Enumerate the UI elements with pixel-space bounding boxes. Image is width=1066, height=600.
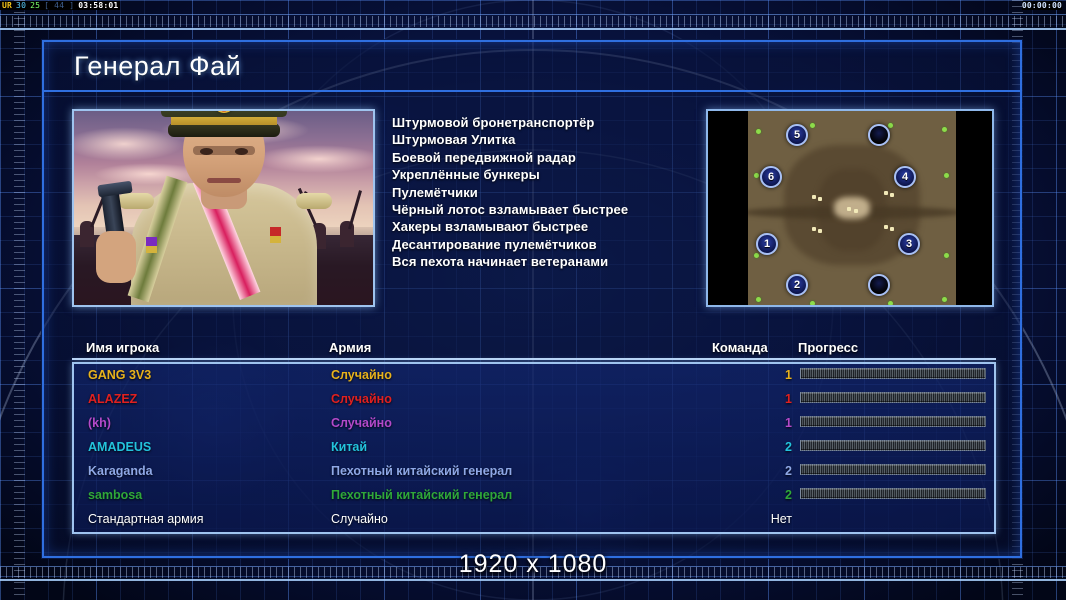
progress-bar	[800, 368, 986, 379]
progress-bar	[800, 440, 986, 451]
map-supply-icon	[754, 253, 759, 258]
map-start-position-5[interactable]: 5	[786, 124, 808, 146]
portrait-medal	[146, 237, 157, 253]
map-start-position-empty-1[interactable]	[868, 124, 890, 146]
ability-item: Десантирование пулемётчиков	[392, 236, 692, 253]
player-row[interactable]: KaragandaПехотный китайский генерал2	[74, 460, 994, 484]
player-row[interactable]: ALAZEZСлучайно1	[74, 388, 994, 412]
map-supply-icon	[942, 297, 947, 302]
upper-content-row: Штурмовой бронетранспортёр Штурмовая Ули…	[44, 94, 1020, 324]
general-portrait-frame	[72, 109, 375, 307]
map-tech-building-icon	[884, 225, 888, 229]
map-tech-building-icon	[890, 193, 894, 197]
player-army: Китай	[331, 440, 367, 454]
ability-item: Вся пехота начинает ветеранами	[392, 253, 692, 270]
player-list-panel: Имя игрока Армия Команда Прогресс GANG 3…	[72, 338, 996, 538]
player-name: sambosa	[88, 488, 142, 502]
portrait-epaulette	[296, 193, 332, 209]
hline-top-a	[0, 14, 1066, 15]
map-supply-icon	[756, 297, 761, 302]
session-clock: 03:58:01	[76, 1, 120, 10]
player-row[interactable]: sambosaПехотный китайский генерал2	[74, 484, 994, 508]
map-tech-building-icon	[812, 227, 816, 231]
map-supply-icon	[944, 253, 949, 258]
player-army: Случайно	[331, 392, 392, 406]
map-start-position-1[interactable]: 1	[756, 233, 778, 255]
column-header-name: Имя игрока	[86, 340, 159, 355]
player-team: 1	[744, 416, 792, 430]
map-supply-icon	[888, 301, 893, 306]
resolution-watermark: 1920 x 1080	[0, 550, 1066, 579]
map-tech-building-icon	[847, 207, 851, 211]
player-progress	[800, 440, 986, 451]
map-start-position-6[interactable]: 6	[760, 166, 782, 188]
portrait-eye	[235, 148, 248, 155]
player-name: GANG 3V3	[88, 368, 151, 382]
map-start-position-3[interactable]: 3	[898, 233, 920, 255]
map-supply-icon	[810, 123, 815, 128]
player-progress	[800, 416, 986, 427]
portrait-cap-brim	[168, 123, 280, 137]
player-name: (kh)	[88, 416, 111, 430]
player-team: 2	[744, 440, 792, 454]
fps-label: UR	[0, 1, 14, 10]
map-tech-building-icon	[812, 195, 816, 199]
ability-item: Боевой передвижной радар	[392, 149, 692, 166]
player-name: AMADEUS	[88, 440, 151, 454]
progress-bar	[800, 416, 986, 427]
map-supply-icon	[942, 127, 947, 132]
map-tech-building-icon	[818, 229, 822, 233]
player-progress	[800, 464, 986, 475]
player-progress	[800, 392, 986, 403]
window-title-bar: Генерал Фай	[44, 42, 1020, 92]
general-info-window: Генерал Фай	[42, 40, 1022, 558]
fps-alt-value: 25	[28, 1, 42, 10]
portrait-medal	[270, 227, 281, 243]
page-title: Генерал Фай	[74, 51, 241, 82]
map-start-position-4[interactable]: 4	[894, 166, 916, 188]
fps-value: 30	[14, 1, 28, 10]
player-team: 1	[744, 392, 792, 406]
player-row[interactable]: GANG 3V3Случайно1	[74, 364, 994, 388]
player-army: Случайно	[331, 512, 388, 526]
player-army: Случайно	[331, 368, 392, 382]
game-screen: UR 30 25 [ 44 ] 03:58:01 00:00:00 Генера…	[0, 0, 1066, 600]
recording-clock: 00:00:00	[1022, 1, 1062, 10]
player-list-body: GANG 3V3Случайно1ALAZEZСлучайно1(kh)Случ…	[72, 362, 996, 534]
map-supply-icon	[810, 301, 815, 306]
player-row[interactable]: AMADEUSКитай2	[74, 436, 994, 460]
player-progress	[800, 488, 986, 499]
column-header-progress: Прогресс	[798, 340, 858, 355]
fps-status-bar: UR 30 25 [ 44 ] 03:58:01 00:00:00	[0, 0, 1066, 11]
ability-item: Штурмовая Улитка	[392, 131, 692, 148]
hline-top-b	[0, 28, 1066, 30]
map-preview-frame[interactable]: 564132	[706, 109, 994, 307]
player-army: Пехотный китайский генерал	[331, 464, 512, 478]
fps-dim-value: [ 44 ]	[42, 1, 76, 10]
player-row[interactable]: (kh)Случайно1	[74, 412, 994, 436]
player-row[interactable]: Стандартная армияСлучайноНет	[74, 508, 994, 532]
general-portrait-image	[74, 111, 373, 305]
map-start-position-2[interactable]: 2	[786, 274, 808, 296]
progress-bar	[800, 488, 986, 499]
general-ability-list: Штурмовой бронетранспортёр Штурмовая Ули…	[392, 114, 692, 271]
player-team: 1	[744, 368, 792, 382]
progress-bar	[800, 464, 986, 475]
ruler-top	[0, 16, 1066, 27]
column-header-army: Армия	[329, 340, 371, 355]
map-tech-building-icon	[884, 191, 888, 195]
ability-item: Чёрный лотос взламывает быстрее	[392, 201, 692, 218]
player-progress	[800, 368, 986, 379]
portrait-eye	[200, 148, 213, 155]
player-team: 2	[744, 464, 792, 478]
column-header-team: Команда	[712, 340, 768, 355]
player-name: Стандартная армия	[88, 512, 203, 526]
player-team: 2	[744, 488, 792, 502]
map-center-island	[834, 197, 870, 219]
map-tech-building-icon	[890, 227, 894, 231]
map-supply-icon	[754, 173, 759, 178]
portrait-mouth	[207, 178, 241, 183]
player-name: Karaganda	[88, 464, 153, 478]
map-supply-icon	[944, 173, 949, 178]
hline-bot-b	[0, 579, 1066, 581]
player-list-header: Имя игрока Армия Команда Прогресс	[72, 338, 996, 360]
portrait-hand	[96, 231, 136, 283]
portrait-epaulette	[118, 193, 154, 209]
progress-bar	[800, 392, 986, 403]
map-tech-building-icon	[854, 209, 858, 213]
ability-item: Хакеры взламывают быстрее	[392, 218, 692, 235]
ability-item: Пулемётчики	[392, 184, 692, 201]
map-start-position-empty-7[interactable]	[868, 274, 890, 296]
player-army: Пехотный китайский генерал	[331, 488, 512, 502]
player-team: Нет	[744, 512, 792, 526]
portrait-cloud	[254, 145, 375, 173]
map-tech-building-icon	[818, 197, 822, 201]
player-army: Случайно	[331, 416, 392, 430]
ability-item: Штурмовой бронетранспортёр	[392, 114, 692, 131]
ability-item: Укреплённые бункеры	[392, 166, 692, 183]
map-supply-icon	[756, 129, 761, 134]
ruler-left	[14, 0, 25, 600]
map-supply-icon	[888, 123, 893, 128]
map-preview-image: 564132	[748, 111, 956, 307]
player-name: ALAZEZ	[88, 392, 137, 406]
